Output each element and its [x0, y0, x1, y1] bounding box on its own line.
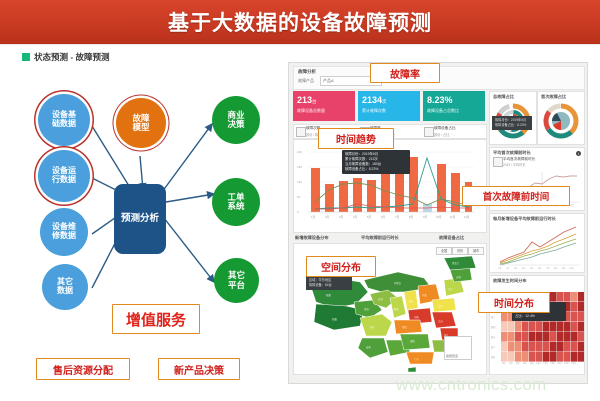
subtitle-bullet-icon [22, 53, 30, 61]
node-label: 预测分析 [121, 214, 159, 224]
svg-text:4月: 4月 [522, 266, 525, 270]
tooltip-row: 故障设备占比：8.23% [495, 123, 529, 128]
legend-icon [296, 127, 306, 137]
dashboard-screenshot[interactable]: 故障分析 故障产品 产品A 213台 故障设备总数量 2134次 累计故障次数 … [288, 62, 588, 384]
svg-text:10时: 10时 [536, 361, 541, 365]
kpi-value: 2134次 [362, 95, 387, 105]
svg-text:辽宁: 辽宁 [448, 287, 453, 291]
callout-new-product-decision: 新产品决策 [158, 358, 240, 380]
svg-text:9月: 9月 [423, 215, 427, 219]
tooltip-row: 故障设备占比：8.23% [345, 167, 407, 172]
svg-text:湖南: 湖南 [410, 339, 415, 343]
node-label: 工单 系统 [227, 193, 244, 211]
svg-text:14时: 14时 [550, 361, 555, 365]
node-label: 故障 模型 [132, 114, 149, 132]
svg-text:内蒙古: 内蒙古 [394, 281, 402, 285]
svg-text:6月: 6月 [538, 266, 541, 270]
svg-text:9月: 9月 [562, 266, 565, 270]
subtitle: 状态预测 - 故障预测 [22, 51, 110, 63]
map-tooltip: 区域：华东地区 故障设备：84台 [306, 276, 352, 290]
architecture-diagram: 设备基 础数据 设备运 行数据 设备维 修数据 其它 数据 故障 模型 商业 决… [0, 66, 285, 401]
kpi-card-failure-count[interactable]: 2134次 累计故障次数 [358, 91, 420, 121]
annotation-label: 时间分布 [494, 295, 534, 310]
tooltip-row: 占比：12.4% [515, 314, 563, 319]
svg-text:180: 180 [297, 165, 302, 169]
svg-text:60: 60 [297, 195, 301, 199]
diagram-node-work-order-system[interactable]: 工单 系统 [212, 178, 260, 226]
diagram-node-business-decision[interactable]: 商业 决策 [212, 96, 260, 144]
donut-title: 总故障占比 [493, 94, 514, 100]
svg-text:10月: 10月 [436, 215, 442, 219]
watermark: www.cntronics.com [396, 375, 547, 395]
svg-text:20时: 20时 [571, 361, 576, 365]
svg-text:3月: 3月 [514, 266, 517, 270]
annotation-time-to-first-failure: 首次故障前时间 [462, 186, 570, 206]
section-title-avg-runtime: 平均故障前运行时长 [361, 235, 399, 241]
annotation-failure-rate: 故障率 [370, 63, 440, 83]
svg-text:江苏: 江苏 [438, 319, 443, 323]
node-label: 其它 平台 [228, 271, 245, 289]
kpi-value: 213台 [297, 95, 317, 105]
node-label: 设备维 修数据 [52, 223, 76, 240]
svg-text:8月: 8月 [554, 266, 557, 270]
donut-tooltip: 故障月份：2019年6月 故障设备占比：8.23% [492, 116, 532, 130]
annotation-label: 故障率 [390, 66, 420, 81]
svg-text:12时: 12时 [543, 361, 548, 365]
diagram-node-device-runtime-data[interactable]: 设备运 行数据 [38, 150, 90, 202]
kpi-card-failed-devices[interactable]: 213台 故障设备总数量 [293, 91, 355, 121]
annotation-label: 空间分布 [321, 259, 361, 274]
diagram-node-other-data[interactable]: 其它 数据 [42, 264, 88, 310]
subtitle-label: 状态预测 - 故障预测 [34, 51, 110, 63]
kpi-label: 故障设备占总数比 [427, 108, 459, 114]
diagram-node-device-repair-data[interactable]: 设备维 修数据 [40, 208, 88, 256]
map-legend: 故障密度 [444, 336, 472, 360]
callout-label: 售后资源分配 [53, 362, 113, 377]
diagram-node-other-platform[interactable]: 其它 平台 [214, 258, 259, 303]
tooltip-row: 故障设备：84台 [309, 283, 349, 288]
svg-text:2时: 2时 [509, 361, 513, 365]
svg-text:周日: 周日 [491, 355, 495, 359]
heatmap-panel[interactable]: 故障发生时间分布 周一周二周三 周四周五周六 周日 0时2时4时 6时8时10时… [489, 275, 585, 375]
diagram-node-failure-model[interactable]: 故障 模型 [116, 98, 166, 148]
legend-sub: 2019 / 平均时长 [503, 162, 526, 167]
kpi-label: 故障设备总数量 [297, 108, 325, 114]
svg-text:8时: 8时 [530, 361, 534, 365]
svg-text:河南: 河南 [414, 315, 419, 319]
svg-text:4月: 4月 [353, 215, 357, 219]
svg-text:黑龙江: 黑龙江 [452, 261, 460, 265]
donut-chart-first [538, 101, 584, 141]
panel-title: 平均首次故障前时长 [493, 150, 531, 156]
svg-text:四川: 四川 [370, 326, 375, 329]
callout-value-added-services: 增值服务 [112, 304, 200, 334]
slide-root: 基于大数据的设备故障预测 状态预测 - 故障预测 [0, 0, 600, 401]
svg-text:16时: 16时 [557, 361, 562, 365]
svg-text:周五: 周五 [491, 335, 496, 339]
diagram-node-predictive-analytics[interactable]: 预测分析 [114, 184, 166, 254]
svg-text:山西: 山西 [408, 299, 413, 303]
kpi-value: 8.23% [427, 95, 453, 105]
bar-chart-panel[interactable]: 240180 120600 1月2月3月 4月5月6月 7月8月9月 10月11… [293, 139, 487, 233]
svg-text:240: 240 [297, 150, 302, 154]
svg-text:11月: 11月 [450, 215, 456, 219]
legend-sub: 按月 / 占比 [434, 132, 449, 137]
svg-text:12月: 12月 [464, 215, 470, 219]
svg-text:8月: 8月 [409, 215, 413, 219]
annotation-time-trend: 时间趋势 [318, 128, 394, 149]
section-title-device-ratio: 故障设备占比 [439, 235, 464, 241]
svg-text:甘肃: 甘肃 [378, 297, 383, 301]
banner-divider [0, 44, 600, 45]
annotation-spatial-distribution: 空间分布 [306, 256, 376, 277]
donut-panel-first-failure[interactable]: 首次故障占比 [537, 91, 585, 145]
svg-text:5月: 5月 [367, 215, 371, 219]
node-label: 设备运 行数据 [52, 167, 76, 184]
bar-chart-tooltip: 故障月份：2019年6月 累计故障次数：213次 当月故障设备数：180台 故障… [342, 150, 410, 174]
map-legend-title: 故障密度 [446, 354, 458, 358]
svg-text:2月: 2月 [506, 266, 509, 270]
svg-text:10月: 10月 [569, 266, 574, 270]
line-chart-cohorts: 1月2月3月 4月5月6月 7月8月9月 10月 [490, 222, 584, 270]
filter-value: 产品A [323, 78, 334, 83]
donut-panel-total-failure[interactable]: 总故障占比 故障月份：2019年6月 故障设备占比：8.23% [489, 91, 537, 145]
node-label: 设备基 础数据 [52, 111, 76, 128]
dashboard-title: 故障分析 [298, 69, 316, 75]
svg-text:新疆: 新疆 [326, 293, 331, 297]
svg-text:周六: 周六 [491, 345, 496, 349]
svg-text:2月: 2月 [325, 215, 329, 219]
kpi-label: 累计故障次数 [362, 108, 386, 114]
donut-title: 首次故障占比 [541, 94, 566, 100]
legend-icon [493, 157, 503, 167]
svg-text:陕西: 陕西 [394, 307, 399, 311]
svg-text:7月: 7月 [546, 266, 549, 270]
svg-text:4时: 4时 [516, 361, 520, 365]
callout-after-sales-resource-allocation: 售后资源分配 [36, 358, 130, 380]
svg-text:7月: 7月 [395, 215, 399, 219]
svg-text:120: 120 [297, 180, 302, 184]
annotation-time-distribution: 时间分布 [478, 292, 550, 313]
node-label: 其它 数据 [57, 278, 73, 295]
svg-text:周三: 周三 [491, 315, 496, 319]
cohort-lines-panel[interactable]: 每月新增设备平均故障前运行时长 1月2月3月 4月5月6月 7月8月9月 10月 [489, 213, 585, 273]
svg-text:云南: 云南 [366, 345, 371, 349]
svg-text:6时: 6时 [523, 361, 527, 365]
callout-label: 新产品决策 [174, 362, 224, 377]
svg-text:青海: 青海 [364, 307, 369, 311]
svg-text:3月: 3月 [339, 215, 343, 219]
svg-text:5月: 5月 [530, 266, 533, 270]
section-title-new-failure-distribution: 新增故障设备分布 [295, 235, 329, 241]
svg-text:广东: 广东 [414, 357, 419, 361]
svg-text:18时: 18时 [564, 361, 569, 365]
svg-text:山东: 山东 [438, 304, 443, 308]
svg-text:1月: 1月 [311, 215, 315, 219]
svg-text:西藏: 西藏 [332, 317, 337, 321]
annotation-label: 首次故障前时间 [483, 189, 550, 203]
diagram-node-device-base-data[interactable]: 设备基 础数据 [38, 94, 90, 146]
svg-text:吉林: 吉林 [456, 275, 461, 279]
info-icon[interactable]: i [576, 151, 581, 156]
kpi-card-failure-ratio[interactable]: 8.23% 故障设备占总数比 [423, 91, 485, 121]
svg-text:湖北: 湖北 [402, 325, 407, 329]
svg-text:6月: 6月 [381, 215, 385, 219]
svg-text:0: 0 [297, 210, 299, 214]
svg-text:周四: 周四 [491, 325, 495, 329]
svg-text:河北: 河北 [422, 293, 427, 297]
title-banner: 基于大数据的设备故障预测 [0, 0, 600, 44]
filter-label: 故障产品 [298, 78, 314, 84]
svg-text:1月: 1月 [498, 266, 501, 270]
callout-label: 增值服务 [126, 309, 186, 330]
legend-icon [424, 127, 434, 137]
annotation-label: 时间趋势 [336, 131, 376, 146]
page-title: 基于大数据的设备故障预测 [0, 0, 600, 44]
node-label: 商业 决策 [227, 111, 244, 129]
svg-text:0时: 0时 [502, 361, 506, 365]
legend-title: 故障设备占比 [434, 126, 456, 131]
